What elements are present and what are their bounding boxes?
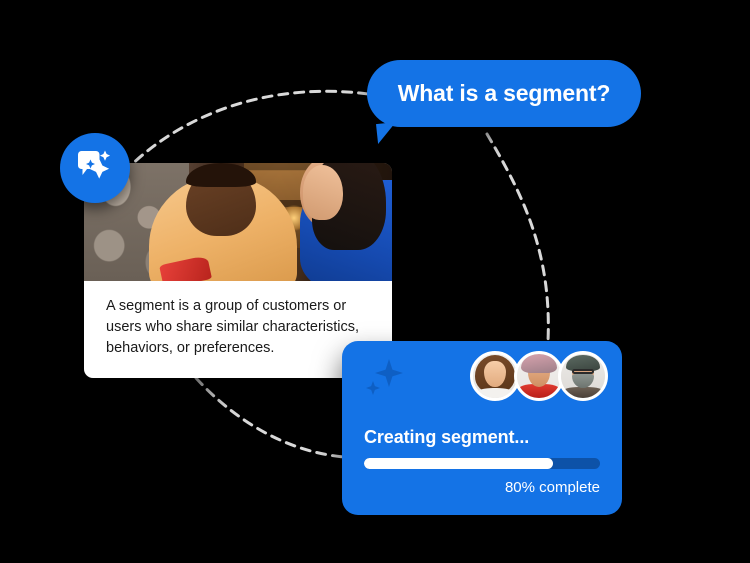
connector-card-to-progress	[196, 378, 344, 457]
progress-title: Creating segment...	[364, 427, 529, 448]
card-photo	[84, 163, 392, 281]
chat-sparkle-badge[interactable]	[60, 133, 130, 203]
speech-bubble-text: What is a segment?	[398, 80, 610, 107]
avatar-3-art	[561, 354, 605, 398]
avatar-1	[470, 351, 520, 401]
avatar-group	[470, 351, 608, 401]
photo-person-two-face	[303, 165, 343, 219]
speech-bubble-tail	[376, 122, 398, 144]
sparkles-icon	[362, 355, 410, 403]
progress-bar-track	[364, 458, 600, 469]
creating-segment-card: Creating segment... 80% complete	[342, 341, 622, 515]
progress-caption: 80% complete	[505, 479, 600, 496]
illustration-canvas: What is a segment? A segment is a group …	[0, 0, 750, 563]
connector-card-to-bubble	[124, 91, 368, 172]
avatar-3	[558, 351, 608, 401]
question-speech-bubble: What is a segment?	[367, 60, 641, 127]
chat-bubble-sparkle-icon	[75, 149, 115, 187]
progress-bar-fill	[364, 458, 553, 469]
avatar-2-art	[517, 354, 561, 398]
connector-bubble-to-progress	[487, 134, 548, 341]
avatar-1-art	[473, 354, 517, 398]
avatar-2	[514, 351, 564, 401]
